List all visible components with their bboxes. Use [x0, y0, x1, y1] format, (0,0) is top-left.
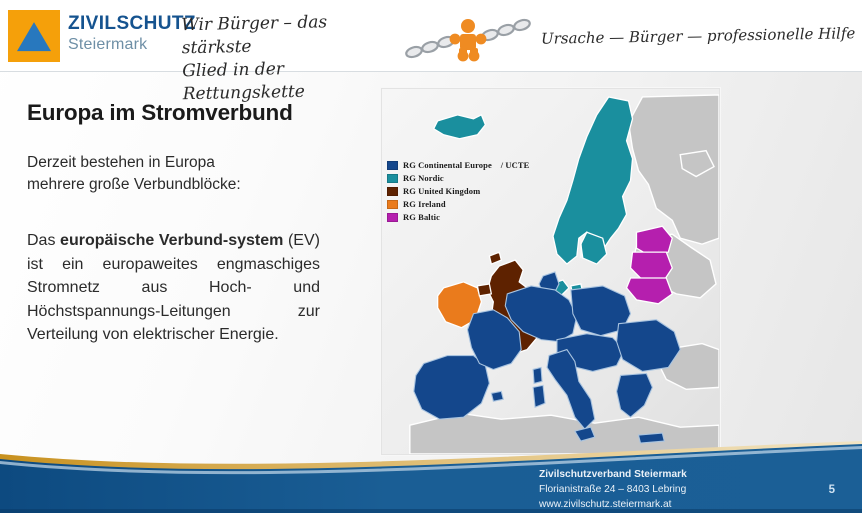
legend-swatch-united-kingdom — [387, 187, 398, 196]
para-bold-1: europäische Verbund- — [60, 232, 228, 249]
legend-label: RG Ireland — [403, 199, 446, 209]
chain-puzzle-icon — [404, 14, 540, 64]
page-title: Europa im Stromverbund — [27, 100, 293, 126]
legend-swatch-nordic — [387, 174, 398, 183]
para-segment-1: Das — [27, 232, 60, 249]
legend-swatch-baltic — [387, 213, 398, 222]
legend-item: RG Ireland — [387, 198, 529, 211]
footer-wave-graphic — [0, 441, 862, 513]
brand-title: ZIVILSCHUTZ — [68, 14, 196, 35]
triangle-icon — [17, 22, 51, 51]
map-graphic — [382, 89, 719, 454]
footer-address: Florianistraße 24 – 8403 Lebring — [539, 482, 687, 497]
brand-text: ZIVILSCHUTZ Steiermark — [68, 14, 196, 53]
footer-org-block: Zivilschutzverband Steiermark Florianist… — [539, 467, 687, 512]
lead-line-1: Derzeit bestehen in Europa — [27, 152, 327, 174]
europe-power-grid-map: RG Continental Europe / UCTE RG Nordic R… — [381, 88, 720, 455]
legend-swatch-continental-europe — [387, 161, 398, 170]
footer-org-name: Zivilschutzverband Steiermark — [539, 467, 687, 482]
slogan-left-line2: Glied in der Rettungskette — [182, 56, 403, 106]
legend-swatch-ireland — [387, 200, 398, 209]
legend-item: RG United Kingdom — [387, 185, 529, 198]
lead-line-2: mehrere große Verbundblöcke: — [27, 174, 327, 196]
slogan-left: Wir Bürger – das stärkste Glied in der R… — [181, 10, 403, 106]
legend-label: RG United Kingdom — [403, 186, 480, 196]
brand-subtitle: Steiermark — [68, 36, 196, 53]
footer-website[interactable]: www.zivilschutz.steiermark.at — [539, 497, 687, 512]
slide: ZIVILSCHUTZ Steiermark Wir Bürger – das … — [0, 0, 862, 513]
map-legend: RG Continental Europe / UCTE RG Nordic R… — [387, 159, 529, 224]
slogan-right: Ursache — Bürger — professionelle Hilfe — [541, 24, 856, 47]
slide-header: ZIVILSCHUTZ Steiermark Wir Bürger – das … — [0, 0, 862, 72]
legend-item: RG Nordic — [387, 172, 529, 185]
legend-label: RG Nordic — [403, 173, 444, 183]
lead-text: Derzeit bestehen in Europa mehrere große… — [27, 152, 327, 197]
body-paragraph: Das europäische Verbund-system (EV) ist … — [27, 229, 320, 347]
legend-label: RG Continental Europe / UCTE — [403, 160, 529, 170]
legend-item: RG Baltic — [387, 211, 529, 224]
slogan-left-line1: Wir Bürger – das stärkste — [181, 10, 402, 60]
zivilschutz-logo-mark — [8, 10, 60, 62]
page-number: 5 — [829, 484, 835, 496]
legend-label: RG Baltic — [403, 212, 440, 222]
para-bold-2: system — [228, 232, 283, 249]
slide-footer: Zivilschutzverband Steiermark Florianist… — [0, 441, 862, 513]
legend-item: RG Continental Europe / UCTE — [387, 159, 529, 172]
